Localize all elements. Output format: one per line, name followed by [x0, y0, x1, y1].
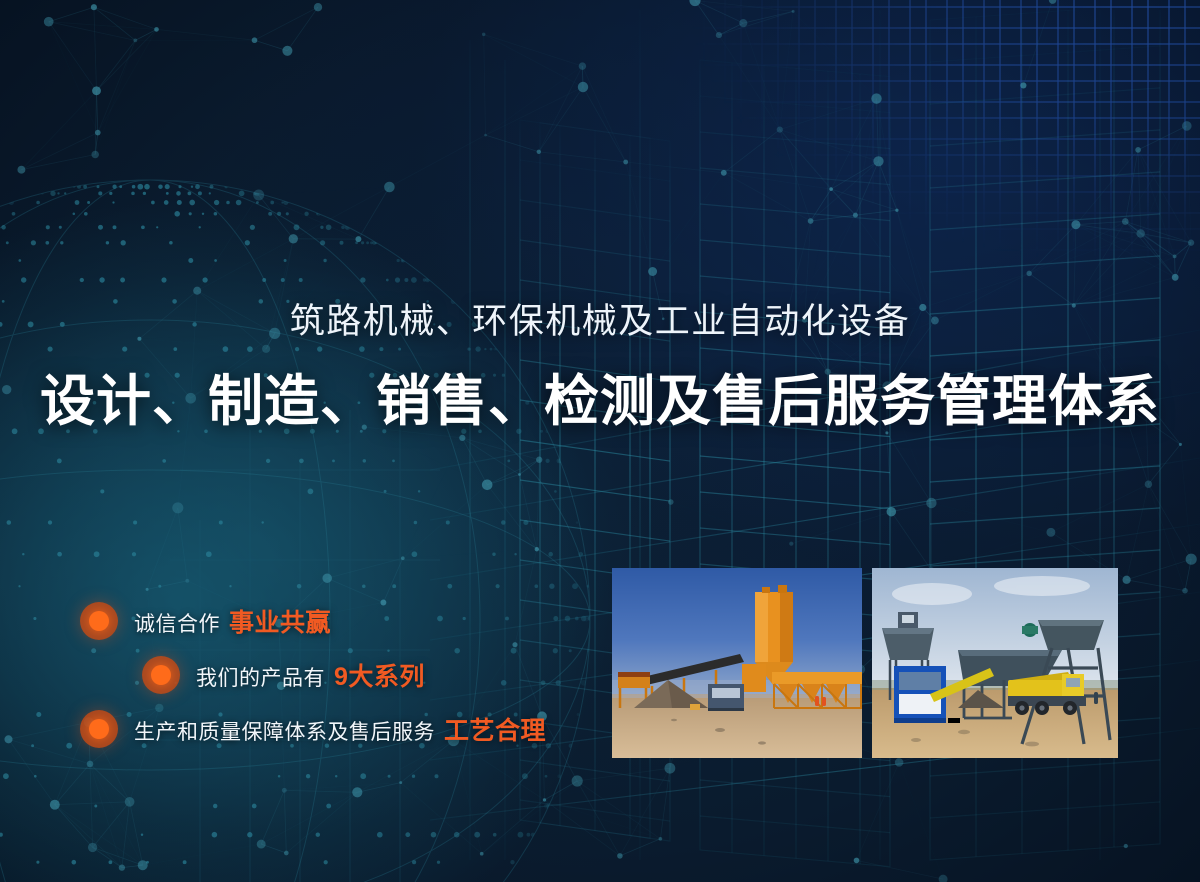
banner-headline: 设计、制造、销售、检测及售后服务管理体系	[0, 366, 1200, 436]
bullet-dot-icon	[80, 602, 118, 640]
bullet-dot-icon	[142, 656, 180, 694]
bullet-plain-text: 诚信合作	[134, 613, 220, 636]
bullet-highlight-text: 9大系列	[334, 663, 425, 691]
mobile-crushing-plant-photo[interactable]	[872, 568, 1118, 758]
promo-banner: 筑路机械、环保机械及工业自动化设备 设计、制造、销售、检测及售后服务管理体系 诚…	[0, 0, 1200, 882]
bullet-highlight-text: 事业共赢	[229, 609, 331, 637]
feature-bullet-list: 诚信合作事业共赢 我们的产品有9大系列 生产和质量保障体系及售后服务工艺合理	[80, 596, 600, 758]
bullet-highlight-text: 工艺合理	[444, 717, 546, 745]
banner-subtitle: 筑路机械、环保机械及工业自动化设备	[0, 299, 1200, 345]
concrete-batching-plant-photo[interactable]	[612, 568, 862, 758]
list-item: 诚信合作事业共赢	[80, 596, 600, 646]
bullet-plain-text: 我们的产品有	[196, 667, 325, 690]
bullet-plain-text: 生产和质量保障体系及售后服务	[134, 721, 435, 744]
bullet-dot-icon	[80, 710, 118, 748]
photo-gallery	[612, 568, 1118, 758]
list-item: 生产和质量保障体系及售后服务工艺合理	[80, 704, 600, 754]
list-item: 我们的产品有9大系列	[142, 650, 600, 700]
